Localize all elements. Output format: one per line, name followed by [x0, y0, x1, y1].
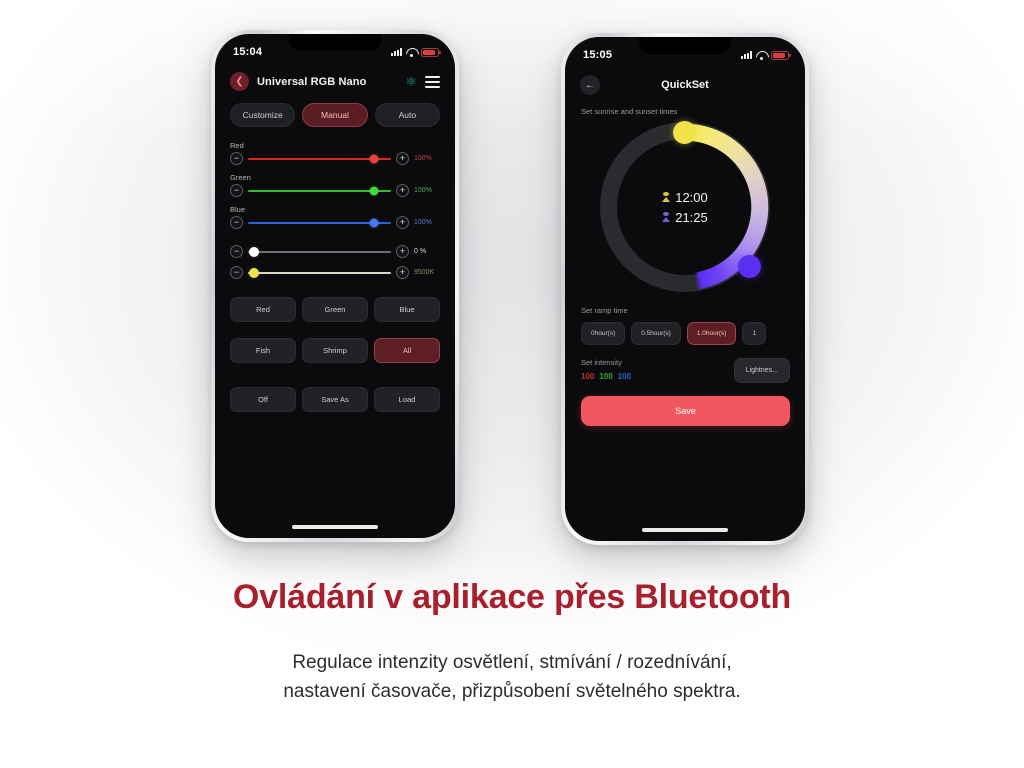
battery-low-icon: [421, 48, 439, 57]
ramp-option-0-5hour[interactable]: 0.5hour(s): [631, 322, 681, 345]
slider-knob-blue[interactable]: [369, 218, 378, 227]
slider-track-blue[interactable]: [248, 222, 391, 224]
home-indicator: [642, 528, 728, 532]
subcopy-line-2: nastavení časovače, přizpůsobení světeln…: [0, 677, 1024, 706]
headline: Ovládání v aplikace přes Bluetooth: [0, 578, 1024, 617]
minus-icon[interactable]: −: [230, 216, 243, 229]
status-time: 15:05: [583, 49, 612, 61]
slider-track-white[interactable]: [248, 251, 391, 253]
load-button[interactable]: Load: [374, 387, 440, 412]
quickset-app-bar: ← QuickSet: [565, 63, 805, 95]
wifi-icon: [756, 51, 767, 59]
slider-value-green: 100%: [414, 187, 440, 194]
sunset-readout: 21:25: [662, 210, 708, 225]
slider-row-blue: − + 100%: [230, 216, 440, 229]
subcopy: Regulace intenzity osvětlení, stmívání /…: [0, 648, 1024, 707]
page-title: QuickSet: [565, 79, 805, 91]
slider-group-white: − + 0 %: [230, 245, 440, 258]
preset-button-green[interactable]: Green: [302, 297, 368, 322]
slider-group-red: Red − + 100%: [230, 141, 440, 165]
phone-mockup-left: 15:04 ❮ Universal RGB Nano ⚛ Customize M…: [211, 30, 459, 542]
slider-row-white: − + 0 %: [230, 245, 440, 258]
sunrise-time: 12:00: [675, 190, 708, 205]
back-chevron-icon[interactable]: ❮: [230, 72, 249, 91]
preset-button-red[interactable]: Red: [230, 297, 296, 322]
plus-icon[interactable]: +: [396, 152, 409, 165]
plus-icon[interactable]: +: [396, 266, 409, 279]
wifi-icon: [406, 48, 417, 56]
off-button[interactable]: Off: [230, 387, 296, 412]
phone-notch: [289, 34, 381, 51]
ramp-section-label: Set ramp time: [565, 306, 805, 315]
battery-low-icon: [771, 51, 789, 60]
slider-track-kelvin[interactable]: [248, 272, 391, 274]
minus-icon[interactable]: −: [230, 184, 243, 197]
status-time: 15:04: [233, 46, 262, 58]
phone-right-screen: 15:05 ← QuickSet Set sunrise and sunset …: [565, 37, 805, 541]
ramp-option-0hour[interactable]: 0hour(s): [581, 322, 625, 345]
sunrise-marker-icon: [662, 192, 670, 202]
save-button[interactable]: Save: [581, 396, 790, 426]
ramp-option-1-0hour[interactable]: 1.0hour(s): [687, 322, 737, 345]
status-icons: [391, 48, 439, 57]
ramp-option-next[interactable]: 1: [742, 322, 766, 345]
app-bar: ❮ Universal RGB Nano ⚛: [215, 60, 455, 91]
slider-knob-white[interactable]: [249, 247, 259, 257]
intensity-red-value: 100: [581, 372, 594, 381]
sunset-time: 21:25: [675, 210, 708, 225]
tab-auto[interactable]: Auto: [375, 103, 440, 127]
dial-center-readout: 12:00 21:25: [600, 122, 770, 292]
slider-group-green: Green − + 100%: [230, 173, 440, 197]
intensity-left: Set intensity 100 100 100: [581, 358, 631, 381]
phone-left-screen: 15:04 ❮ Universal RGB Nano ⚛ Customize M…: [215, 34, 455, 538]
slider-knob-red[interactable]: [369, 154, 378, 163]
intensity-green-value: 100: [599, 372, 612, 381]
sunrise-section-label: Set sunrise and sunset times: [565, 95, 805, 116]
slider-track-green[interactable]: [248, 190, 391, 192]
slider-value-blue: 100%: [414, 219, 440, 226]
minus-icon[interactable]: −: [230, 152, 243, 165]
save-as-button[interactable]: Save As: [302, 387, 368, 412]
plus-icon[interactable]: +: [396, 216, 409, 229]
home-indicator: [292, 525, 378, 529]
ramp-time-options: 0hour(s) 0.5hour(s) 1.0hour(s) 1: [565, 315, 805, 345]
slider-row-kelvin: − + 9500K: [230, 266, 440, 279]
lightness-button[interactable]: Lightnes...: [734, 358, 790, 383]
preset-button-blue[interactable]: Blue: [374, 297, 440, 322]
page-title: Universal RGB Nano: [257, 76, 397, 88]
slider-label-green: Green: [230, 173, 440, 182]
status-icons: [741, 51, 789, 60]
bluetooth-icon[interactable]: ⚛: [405, 75, 417, 88]
slider-group-blue: Blue − + 100%: [230, 205, 440, 229]
preset-button-shrimp[interactable]: Shrimp: [302, 338, 368, 363]
slider-label-blue: Blue: [230, 205, 440, 214]
slider-knob-green[interactable]: [369, 186, 378, 195]
sunrise-readout: 12:00: [662, 190, 708, 205]
plus-icon[interactable]: +: [396, 184, 409, 197]
intensity-section-label: Set intensity: [581, 358, 631, 367]
slider-value-kelvin: 9500K: [414, 269, 440, 276]
slider-label-red: Red: [230, 141, 440, 150]
intensity-blue-value: 100: [618, 372, 631, 381]
slider-track-red[interactable]: [248, 158, 391, 160]
slider-row-green: − + 100%: [230, 184, 440, 197]
slider-row-red: − + 100%: [230, 152, 440, 165]
slider-panel: Red − + 100% Green − +: [215, 127, 455, 279]
preset-button-fish[interactable]: Fish: [230, 338, 296, 363]
phone-notch: [639, 37, 731, 54]
slider-value-white: 0 %: [414, 248, 440, 255]
minus-icon[interactable]: −: [230, 266, 243, 279]
subcopy-line-1: Regulace intenzity osvětlení, stmívání /…: [0, 648, 1024, 677]
cellular-signal-icon: [741, 51, 752, 59]
minus-icon[interactable]: −: [230, 245, 243, 258]
phone-mockup-right: 15:05 ← QuickSet Set sunrise and sunset …: [561, 33, 809, 545]
slider-knob-kelvin[interactable]: [249, 268, 259, 278]
tab-manual[interactable]: Manual: [302, 103, 367, 127]
slider-group-kelvin: − + 9500K: [230, 266, 440, 279]
slider-value-red: 100%: [414, 155, 440, 162]
intensity-rgb-values: 100 100 100: [581, 372, 631, 381]
plus-icon[interactable]: +: [396, 245, 409, 258]
intensity-section: Set intensity 100 100 100 Lightnes...: [565, 358, 805, 383]
sunset-marker-icon: [662, 212, 670, 222]
sunrise-sunset-dial[interactable]: 12:00 21:25: [600, 122, 770, 292]
back-arrow-icon[interactable]: ←: [580, 75, 600, 95]
preset-grid-row2: Fish Shrimp All: [215, 328, 455, 363]
preset-button-all[interactable]: All: [374, 338, 440, 363]
tab-customize[interactable]: Customize: [230, 103, 295, 127]
preset-grid-row1: Red Green Blue: [215, 287, 455, 322]
cellular-signal-icon: [391, 48, 402, 56]
hamburger-menu-icon[interactable]: [425, 76, 440, 88]
action-button-row: Off Save As Load: [215, 377, 455, 412]
mode-tabs: Customize Manual Auto: [215, 91, 455, 127]
